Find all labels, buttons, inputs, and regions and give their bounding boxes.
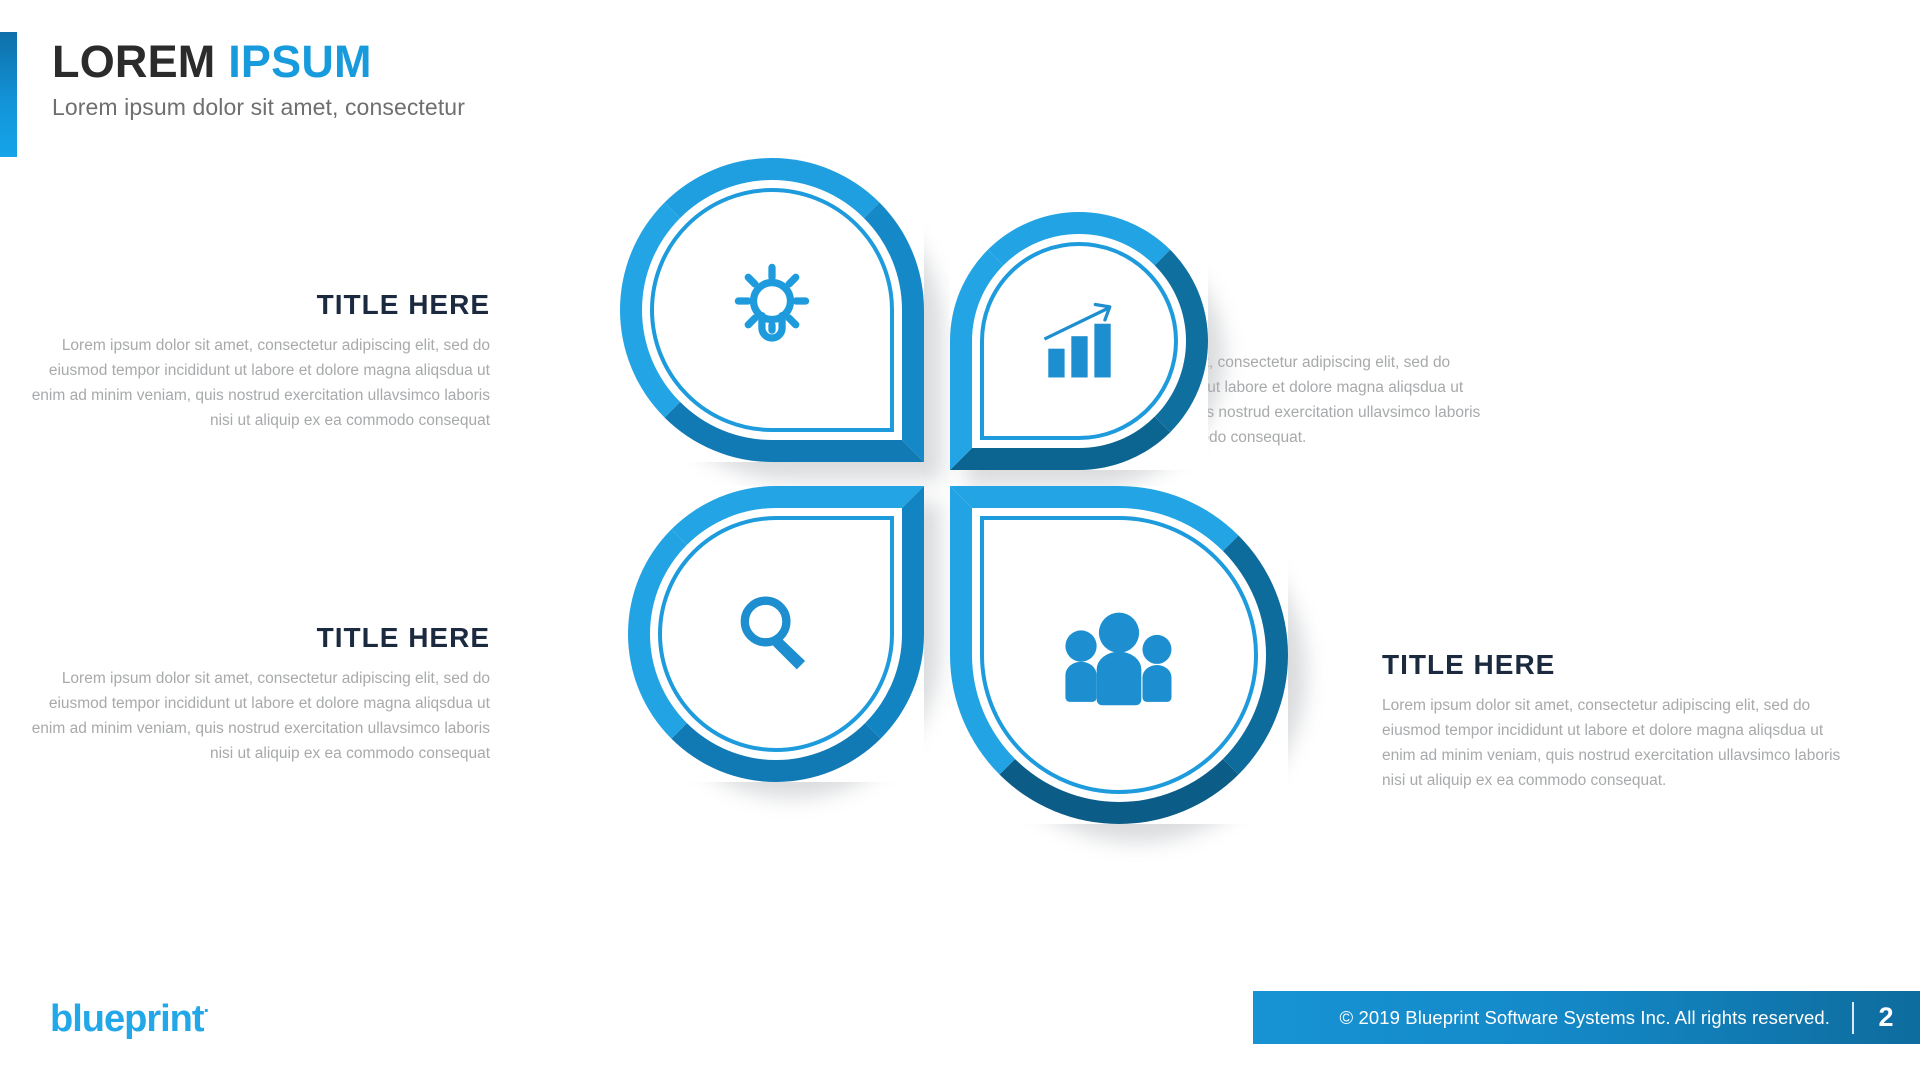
page-subtitle: Lorem ipsum dolor sit amet, consectetur [52,94,465,121]
magnifier-icon [628,486,924,782]
header-accent-bar [0,32,17,157]
blueprint-logo-mark: · [204,1000,211,1022]
footer-copyright: © 2019 Blueprint Software Systems Inc. A… [1340,1007,1830,1029]
info-block-body: Lorem ipsum dolor sit amet, consectetur … [20,666,490,766]
footer-divider [1852,1002,1854,1034]
blueprint-logo: blueprint· [50,1000,210,1038]
four-petal-pinwheel-diagram [620,150,1340,870]
bar-chart-growth-icon [950,212,1208,470]
petal-top-right[interactable] [950,212,1208,470]
page-title: LOREM IPSUM [52,38,465,85]
petal-top-left[interactable] [620,158,924,462]
header: LOREM IPSUM Lorem ipsum dolor sit amet, … [52,38,465,121]
petal-bottom-left[interactable] [628,486,924,782]
footer-bar: © 2019 Blueprint Software Systems Inc. A… [1253,991,1920,1044]
info-block-top-left: TITLE HERE Lorem ipsum dolor sit amet, c… [20,290,490,433]
petal-bottom-right[interactable] [950,486,1288,824]
info-block-body: Lorem ipsum dolor sit amet, consectetur … [20,333,490,433]
lightbulb-icon [620,158,924,462]
info-block-body: Lorem ipsum dolor sit amet, consectetur … [1382,693,1852,793]
info-block-title: TITLE HERE [1382,650,1852,681]
page-number: 2 [1876,1002,1896,1033]
info-block-title: TITLE HERE [20,290,490,321]
page-title-blue: IPSUM [228,36,372,87]
info-block-bottom-left: TITLE HERE Lorem ipsum dolor sit amet, c… [20,623,490,766]
info-block-title: TITLE HERE [20,623,490,654]
info-block-bottom-right: TITLE HERE Lorem ipsum dolor sit amet, c… [1382,650,1852,793]
page-title-dark: LOREM [52,36,216,87]
blueprint-logo-text: blueprint [50,998,204,1040]
people-group-icon [950,486,1288,824]
